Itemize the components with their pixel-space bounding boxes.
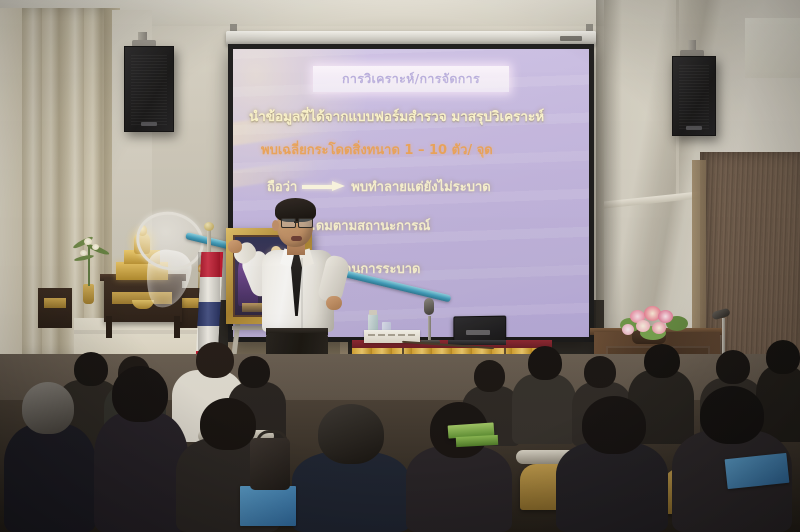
- audience-head-gray-hair: [22, 382, 74, 434]
- slide-title: การวิเคราะห์/การจัดการ: [342, 69, 480, 89]
- audience-head: [196, 342, 234, 378]
- laptop-brand-logo: [466, 330, 490, 335]
- audience-head: [238, 356, 270, 388]
- audience-body: [406, 446, 512, 532]
- presenter-ear: [272, 220, 279, 231]
- orchid-bloom: [80, 250, 87, 256]
- wall-corner-shadow: [596, 0, 622, 350]
- audience-head: [766, 340, 800, 374]
- audience-body: [292, 452, 410, 532]
- microphone-stand: [428, 316, 431, 342]
- wall-recess: [745, 18, 800, 78]
- orchid-bloom: [84, 238, 92, 245]
- projector-glare-band: [233, 159, 319, 193]
- handout-blue[interactable]: [240, 486, 296, 526]
- audience-head: [318, 404, 384, 464]
- orchid-bloom: [92, 244, 99, 250]
- audience-head: [528, 346, 562, 380]
- presenter-mouth: [291, 236, 302, 241]
- right-arrow-icon: [302, 182, 346, 191]
- flower-bloom: [622, 324, 634, 335]
- screen-roller-housing: [226, 31, 596, 45]
- altar-gold-trim: [44, 298, 66, 308]
- microphone-head: [424, 298, 434, 315]
- presenter-left-hand: [228, 240, 242, 253]
- housing-badge: [560, 36, 582, 41]
- flower-bloom: [652, 322, 666, 334]
- audience-head: [700, 386, 764, 444]
- speaker-grille: [679, 63, 709, 129]
- altar-leg: [174, 316, 180, 338]
- slide-line-1: นำข้อมูลที่ได้จากแบบฟอร์มสำรวจ มาสรุปวิเ…: [249, 105, 579, 127]
- flower-bloom: [636, 320, 650, 332]
- eyeglasses-bridge: [294, 221, 299, 223]
- projector-glare: [233, 49, 389, 210]
- slide-line-4: ...ดมตามสถานะการณ์: [301, 215, 579, 236]
- audience-head: [74, 352, 108, 386]
- altar-cloth-fold: [74, 330, 210, 334]
- audience-head: [474, 360, 505, 392]
- audience-head: [112, 366, 168, 422]
- audience-body: [756, 366, 800, 442]
- slide-line-2: พบเฉลี่ยกระโดดสิ่งทนาด 1 – 10 ตัว/ จุด: [261, 139, 579, 160]
- altar-side-table-left: [38, 288, 72, 328]
- shoulder-bag[interactable]: [250, 438, 290, 490]
- speaker-badge: [141, 122, 157, 126]
- flower-bloom: [658, 310, 673, 323]
- name-card-text: [368, 334, 416, 336]
- audience-body: [4, 424, 96, 532]
- slide-title-box: การวิเคราะห์/การจัดการ: [313, 66, 509, 92]
- slide-line-3: ถือว่า พบทำลายแต่ยังไม่ระบาด: [267, 176, 579, 197]
- loudspeaker-left: [124, 46, 174, 132]
- audience-head: [582, 396, 646, 454]
- audience-body: [94, 412, 188, 532]
- slide-bullet-result: พบทำลายแต่ยังไม่ระบาด: [351, 176, 490, 197]
- presenter-right-hand: [326, 296, 342, 310]
- presenter-shirt-placket: [301, 258, 303, 328]
- speaker-badge: [686, 126, 702, 130]
- audience-body: [556, 442, 668, 532]
- photo-scene: การวิเคราะห์/การจัดการ นำข้อมูลที่ได้จาก…: [0, 0, 800, 532]
- audience-head: [200, 398, 256, 450]
- slide-bullet-label: ถือว่า: [267, 176, 297, 197]
- slide-line-2-text: พบเฉลี่ยกระโดดสิ่งทนาด 1 – 10 ตัว/ จุด: [261, 143, 493, 158]
- flagpole-finial: [204, 222, 214, 231]
- loudspeaker-right: [672, 56, 716, 136]
- projector-glare-band: [233, 109, 334, 151]
- eyeglasses-lens-left: [281, 218, 296, 228]
- flower-vase: [83, 284, 94, 304]
- audience-head: [716, 350, 750, 384]
- eyeglasses-lens-right: [298, 218, 313, 228]
- bottle-cap: [369, 310, 377, 315]
- flower-bouquet: [614, 306, 690, 340]
- audience-head: [644, 344, 680, 378]
- curtain-highlight: [0, 8, 22, 358]
- audience-head: [584, 356, 616, 388]
- speaker-grille: [131, 53, 167, 125]
- audience-body: [512, 374, 576, 444]
- altar-leg: [106, 316, 112, 338]
